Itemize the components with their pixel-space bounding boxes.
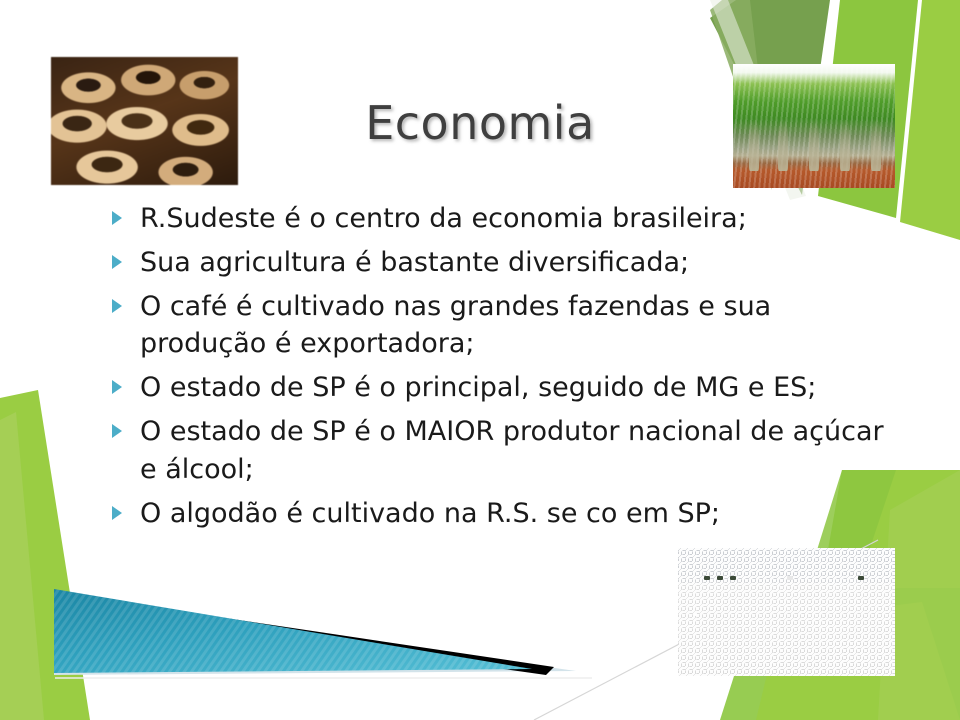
triangle-right-icon — [112, 211, 122, 225]
triangle-right-icon — [112, 380, 122, 394]
decoration-teal-wedge-overlay — [54, 583, 584, 679]
bullet-text: O café é cultivado nas grandes fazendas … — [140, 288, 884, 364]
slide-canvas: Economia R.Sudeste é o centro da economi… — [0, 0, 960, 720]
triangle-right-icon — [112, 424, 122, 438]
triangle-right-icon — [112, 255, 122, 269]
bullet-text: O estado de SP é o principal, seguido de… — [140, 369, 884, 407]
bullet-item: R.Sudeste é o centro da economia brasile… — [104, 200, 884, 238]
bullet-text: Sua agricultura é bastante diversificada… — [140, 244, 884, 282]
triangle-right-icon — [112, 299, 122, 313]
cotton-horizon-objects — [678, 576, 895, 582]
cotton-field-image — [678, 548, 895, 676]
bullet-text: O algodão é cultivado na R.S. se co em S… — [140, 495, 884, 533]
bullet-item: O estado de SP é o MAIOR produtor nacion… — [104, 413, 884, 489]
sugarcane-field-image — [733, 64, 895, 188]
bullet-item: O estado de SP é o principal, seguido de… — [104, 369, 884, 407]
bullet-list: R.Sudeste é o centro da economia brasile… — [104, 200, 884, 538]
bullet-item: Sua agricultura é bastante diversificada… — [104, 244, 884, 282]
triangle-right-icon — [112, 506, 122, 520]
bullet-text: R.Sudeste é o centro da economia brasile… — [140, 200, 884, 238]
slide-title: Economia — [255, 98, 705, 149]
bullet-item: O café é cultivado nas grandes fazendas … — [104, 288, 884, 364]
bullet-text: O estado de SP é o MAIOR produtor nacion… — [140, 413, 884, 489]
bullet-item: O algodão é cultivado na R.S. se co em S… — [104, 495, 884, 533]
coffee-bean-sacks-image — [51, 57, 238, 185]
